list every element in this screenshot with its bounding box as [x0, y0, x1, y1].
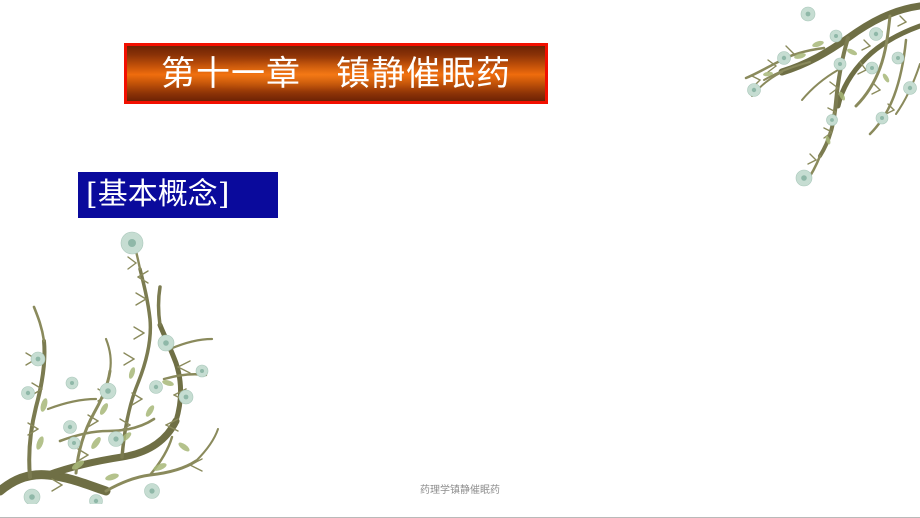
chapter-title-text: 第十一章 镇静催眠药 — [161, 57, 511, 91]
presentation-slide: 第十一章 镇静催眠药 [基本概念] 药理学镇静催眠药 — [0, 0, 920, 518]
basic-concepts-heading-text: [基本概念] — [86, 180, 229, 210]
slide-footer: 药理学镇静催眠药 — [0, 484, 920, 518]
footer-title-text: 药理学镇静催眠药 — [0, 484, 920, 498]
blossom-branch-top-right-decoration — [720, 0, 920, 190]
basic-concepts-heading-box: [基本概念] — [78, 172, 278, 218]
chapter-title-banner: 第十一章 镇静催眠药 — [124, 43, 548, 104]
blossom-branch-bottom-left-decoration — [0, 229, 245, 504]
